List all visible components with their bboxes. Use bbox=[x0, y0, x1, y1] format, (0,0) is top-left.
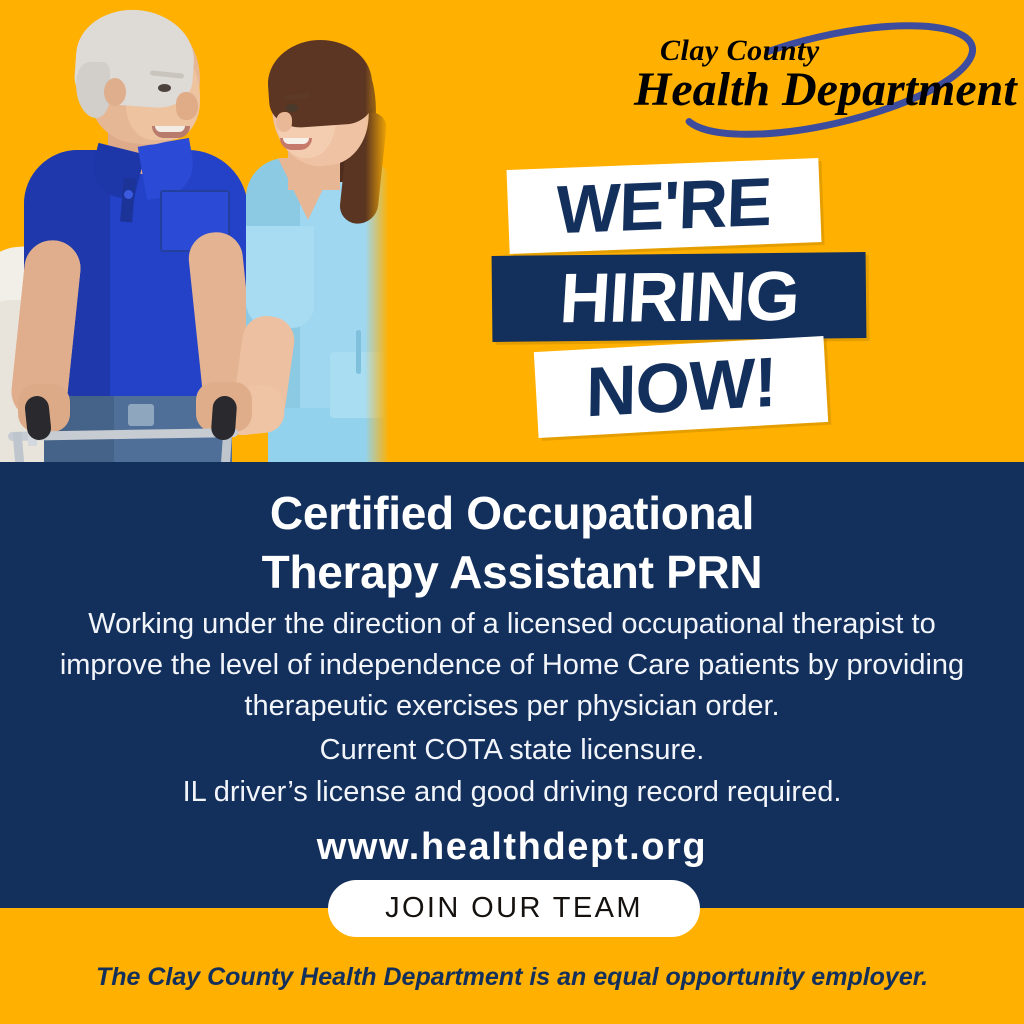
banner-now-label: NOW! bbox=[585, 347, 776, 428]
hiring-poster: Clay County Health Department WE'RE HIRI… bbox=[0, 0, 1024, 1024]
nurse-nose bbox=[276, 112, 292, 132]
caregiver-photo bbox=[0, 0, 392, 462]
man-ear bbox=[104, 78, 126, 106]
man-belt bbox=[128, 404, 154, 426]
job-title: Certified Occupational Therapy Assistant… bbox=[0, 484, 1024, 602]
walker-grip-right bbox=[210, 395, 237, 441]
equal-opportunity-note: The Clay County Health Department is an … bbox=[0, 963, 1024, 992]
job-title-line-1: Certified Occupational bbox=[90, 484, 934, 543]
requirement-driver-license: IL driver’s license and good driving rec… bbox=[40, 771, 984, 813]
nurse-sleeve bbox=[246, 226, 314, 328]
banner-were: WE'RE bbox=[507, 158, 822, 254]
banner-were-label: WE'RE bbox=[555, 168, 772, 244]
banner-hiring-label: HIRING bbox=[557, 261, 800, 334]
banner-hiring: HIRING bbox=[492, 252, 867, 342]
nurse-teeth bbox=[283, 138, 309, 144]
job-title-line-2: Therapy Assistant PRN bbox=[90, 543, 934, 602]
clay-county-health-department-logo: Clay County Health Department bbox=[632, 18, 1008, 146]
photo-edge-fade bbox=[330, 0, 392, 462]
banner-now: NOW! bbox=[534, 336, 828, 438]
man-nose bbox=[176, 92, 198, 120]
join-our-team-button[interactable]: JOIN OUR TEAM bbox=[328, 880, 700, 937]
requirement-licensure: Current COTA state licensure. bbox=[40, 729, 984, 771]
job-description: Working under the direction of a license… bbox=[0, 604, 1024, 728]
man-eye bbox=[158, 84, 171, 92]
man-teeth bbox=[155, 126, 185, 132]
job-requirements: Current COTA state licensure. IL driver’… bbox=[0, 729, 1024, 814]
man-shirt-button bbox=[124, 190, 133, 199]
nurse-eye bbox=[286, 104, 298, 112]
logo-line-department: Health Department bbox=[634, 62, 1017, 117]
website-url[interactable]: www.healthdept.org bbox=[0, 826, 1024, 869]
